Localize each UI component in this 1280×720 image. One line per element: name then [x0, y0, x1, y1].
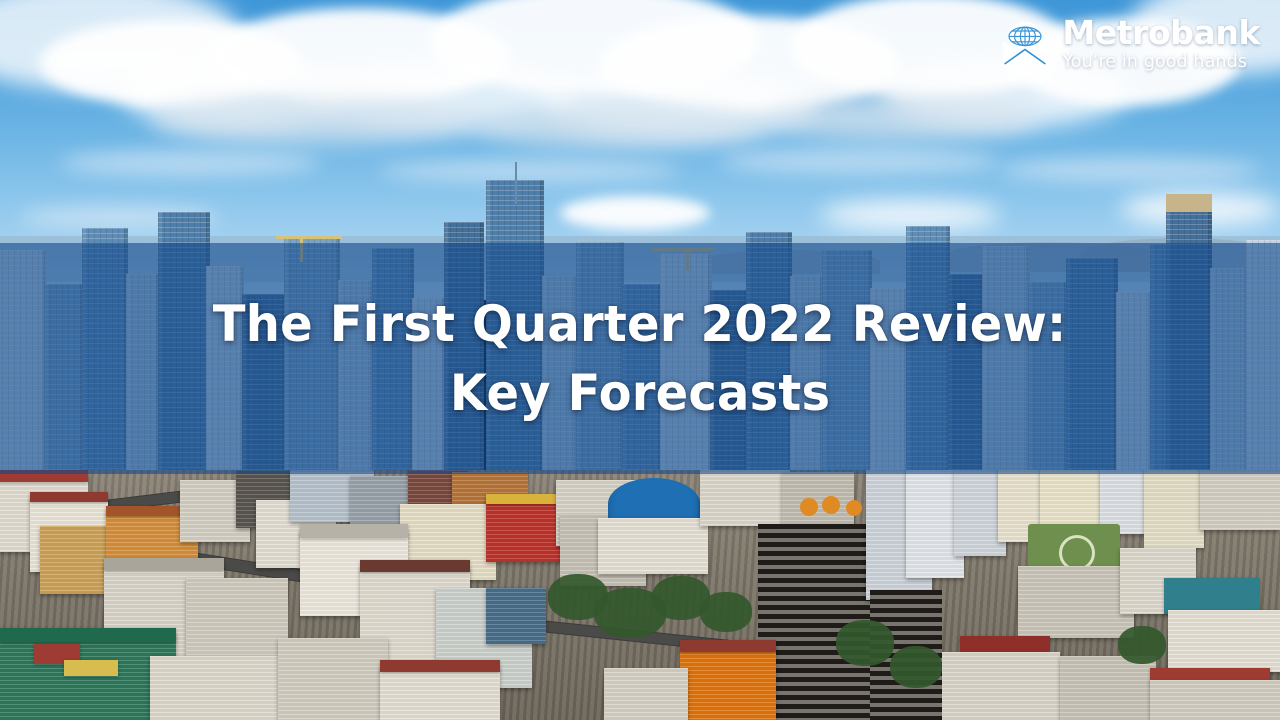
- logo-text-block: Metrobank You’re in good hands: [1062, 16, 1260, 72]
- globe-envelope-icon: [999, 20, 1051, 68]
- metrobank-logo[interactable]: Metrobank You’re in good hands: [999, 16, 1260, 72]
- brand-tagline: You’re in good hands: [1062, 52, 1247, 72]
- brand-name: Metrobank: [1062, 16, 1260, 49]
- foreground-city: [0, 470, 1280, 720]
- title-overlay-band: [0, 243, 1280, 474]
- metrobank-banner: The First Quarter 2022 Review: Key Forec…: [0, 0, 1280, 720]
